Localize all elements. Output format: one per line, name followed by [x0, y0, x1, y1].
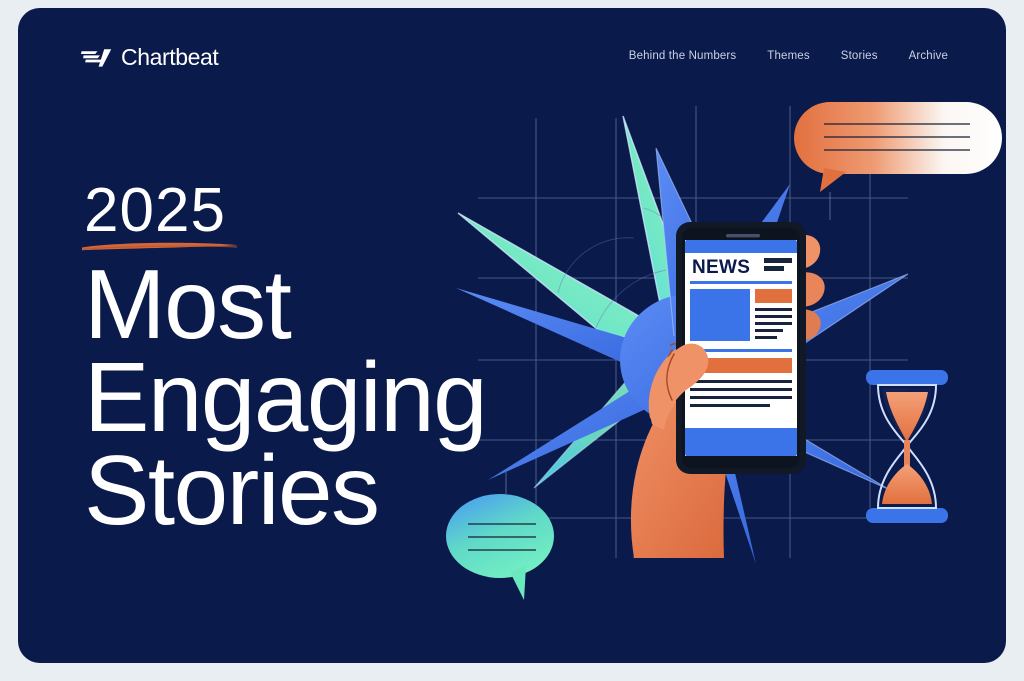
title-line-2: Engaging [84, 351, 486, 444]
hero-year: 2025 [84, 180, 226, 242]
hero-card: Chartbeat Behind the Numbers Themes Stor… [18, 8, 1006, 663]
nav-item-themes[interactable]: Themes [767, 50, 809, 62]
nav-item-archive[interactable]: Archive [909, 50, 948, 62]
title-line-1: Most [84, 258, 486, 351]
chartbeat-logo[interactable]: Chartbeat [80, 46, 218, 69]
hand-drawn-underline-icon [80, 238, 242, 252]
page-title: Most Engaging Stories [84, 258, 486, 537]
hero-illustration: NEWS [438, 88, 1006, 628]
orange-speech-bubble [794, 102, 1002, 220]
main-nav: Behind the Numbers Themes Stories Archiv… [629, 50, 948, 62]
hourglass [866, 370, 948, 523]
illustration-svg: NEWS [438, 88, 1006, 628]
phone-masthead-text: NEWS [692, 257, 750, 278]
hero-year-wrap: 2025 [84, 180, 226, 242]
logo-wordmark: Chartbeat [121, 46, 218, 69]
site-header: Chartbeat Behind the Numbers Themes Stor… [18, 8, 1006, 103]
chartbeat-arrow-icon [80, 47, 114, 69]
nav-item-behind-the-numbers[interactable]: Behind the Numbers [629, 50, 737, 62]
nav-item-stories[interactable]: Stories [841, 50, 878, 62]
hero-headline: 2025 Most Engaging Stories [84, 180, 486, 537]
title-line-3: Stories [84, 444, 486, 537]
